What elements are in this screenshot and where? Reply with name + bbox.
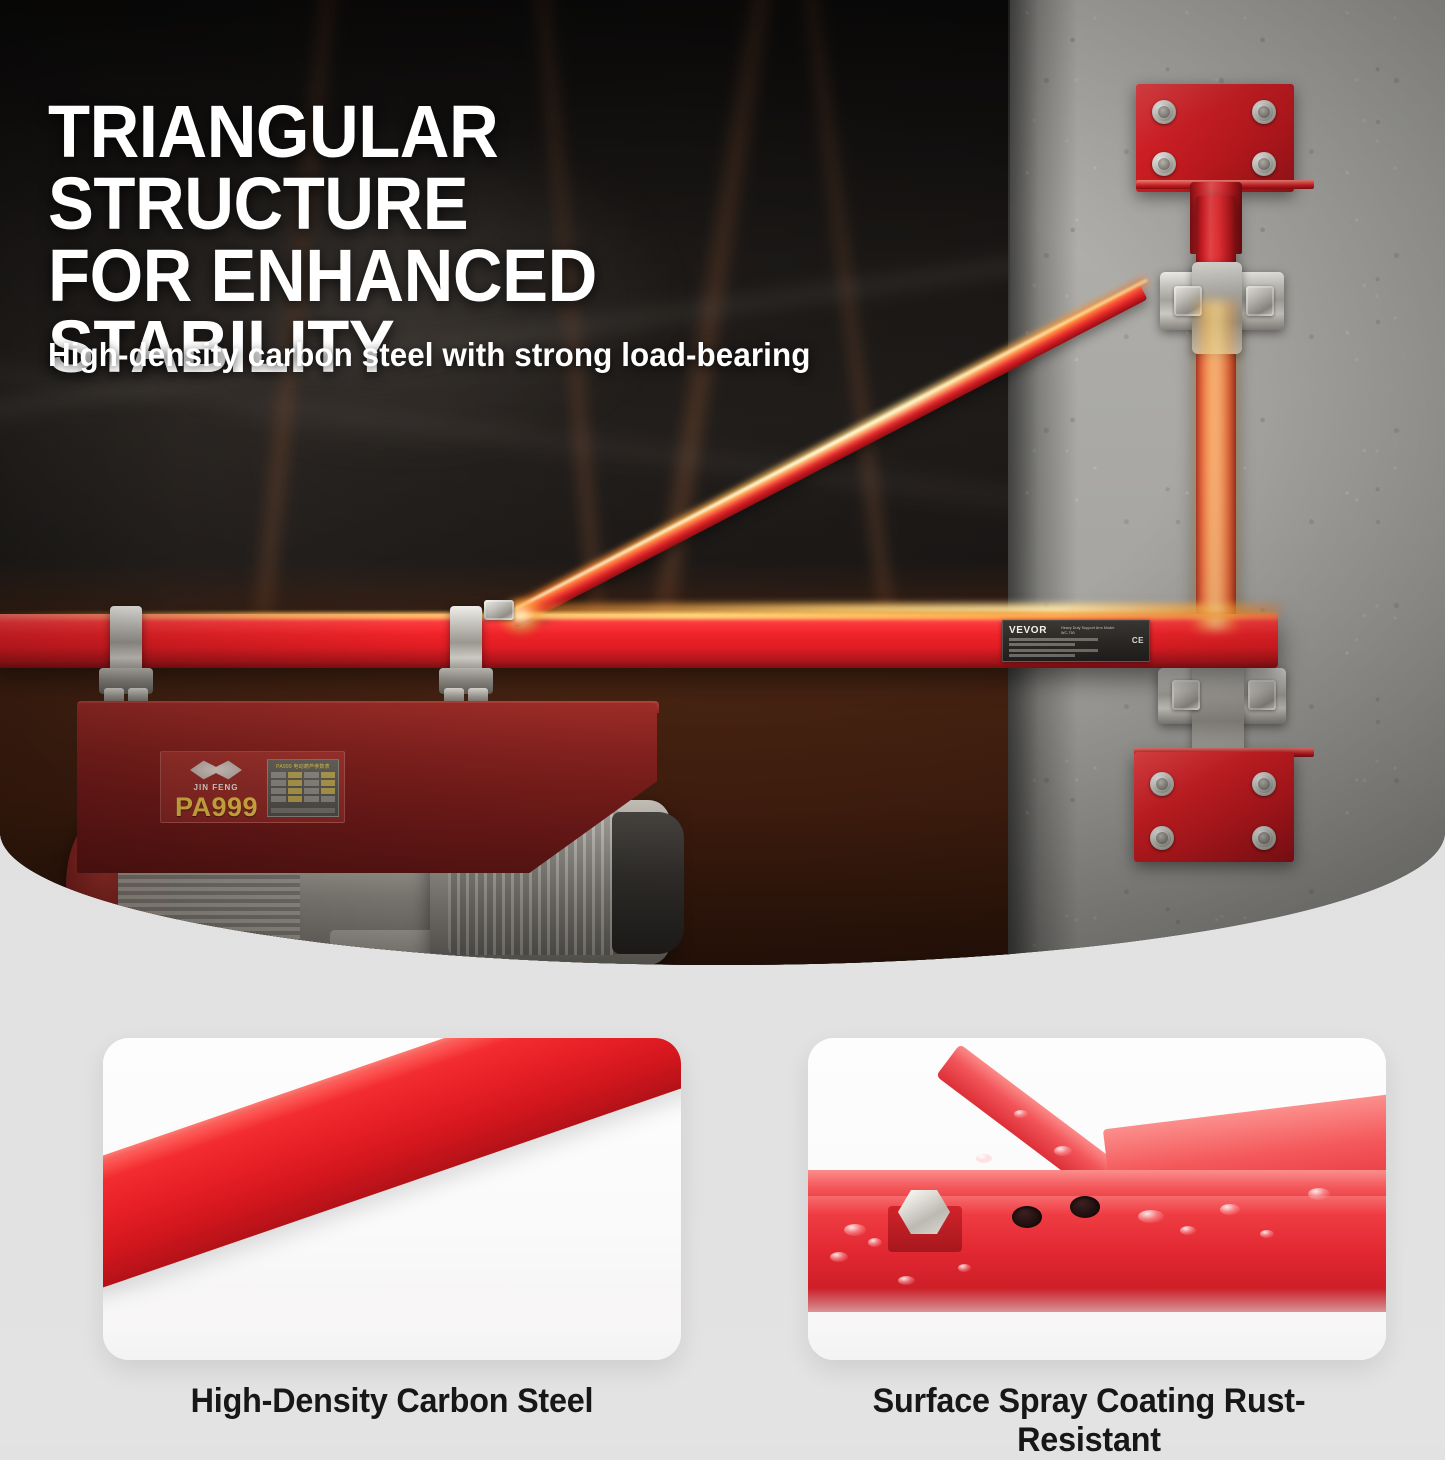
hoist-wire-rope xyxy=(196,960,199,965)
steel-beam-icon xyxy=(103,1038,681,1297)
card-floor-reflection xyxy=(103,1288,681,1360)
water-droplet-icon xyxy=(1308,1188,1330,1200)
ce-certification-mark: CE xyxy=(1132,636,1144,645)
water-droplet-icon xyxy=(1180,1226,1196,1235)
vevor-nameplate: VEVOR Heavy Duty Support Arm Model: WC-7… xyxy=(1002,620,1150,662)
mount-bolt-icon xyxy=(1252,772,1276,796)
feature-card-carbon-steel xyxy=(103,1038,681,1360)
water-droplet-icon xyxy=(976,1154,992,1163)
water-droplet-icon xyxy=(1260,1230,1274,1238)
mount-bolt-icon xyxy=(1150,772,1174,796)
vevor-model-text: Heavy Duty Support Arm Model: WC-750 xyxy=(1061,626,1119,636)
water-droplet-icon xyxy=(830,1252,848,1262)
adjustment-hole-icon xyxy=(1012,1206,1042,1228)
jinfeng-logo-icon xyxy=(185,757,247,783)
product-feature-page: VEVOR Heavy Duty Support Arm Model: WC-7… xyxy=(0,0,1445,1445)
feature-caption-right: Surface Spray Coating Rust-Resistant xyxy=(814,1382,1363,1460)
water-droplet-icon xyxy=(1220,1204,1240,1215)
water-droplet-icon xyxy=(868,1238,882,1247)
feature-cards-section: High-Density Carbon Steel Surface Spray … xyxy=(0,1000,1445,1445)
clamp-nut-icon xyxy=(1246,286,1274,316)
mount-bolt-icon xyxy=(1252,100,1276,124)
spec-plate-footer xyxy=(271,808,335,813)
mount-bolt-icon xyxy=(1150,826,1174,850)
feature-card-rust-resistant xyxy=(808,1038,1386,1360)
boom-edge-highlight xyxy=(0,612,1278,619)
card-background xyxy=(103,1038,681,1360)
spec-plate-rows xyxy=(271,772,335,804)
page-subtitle: High-density carbon steel with strong lo… xyxy=(48,336,941,374)
mount-bolt-icon xyxy=(1252,826,1276,850)
adjustment-hole-icon xyxy=(1070,1196,1100,1218)
water-droplet-icon xyxy=(898,1276,915,1285)
water-droplet-icon xyxy=(844,1224,866,1236)
hoist-fan-cover xyxy=(612,812,684,954)
water-droplet-icon xyxy=(1054,1146,1072,1156)
spec-plate-title: PA999 电动葫芦参数表 xyxy=(268,763,338,770)
trolley-strap xyxy=(110,606,142,676)
vevor-spec-lines xyxy=(1009,638,1115,660)
hoist-spec-plate: PA999 电动葫芦参数表 xyxy=(267,759,339,817)
hoist-model-number: PA999 xyxy=(175,792,275,823)
hoist-brand-label: JIN FENG PA999 PA999 电动葫芦参数表 xyxy=(160,751,345,823)
trolley-strap xyxy=(450,606,482,676)
mount-bolt-icon xyxy=(1152,152,1176,176)
headline-line-1: TRIANGULAR STRUCTURE xyxy=(48,90,498,245)
brace-joint-bolt-icon xyxy=(484,600,514,620)
mount-bolt-icon xyxy=(1152,100,1176,124)
water-droplet-icon xyxy=(1138,1210,1164,1223)
hoist-brand-name: JIN FENG xyxy=(181,783,251,792)
clamp-nut-icon xyxy=(1172,680,1200,710)
card-floor-reflection xyxy=(808,1288,1386,1360)
feature-caption-left: High-Density Carbon Steel xyxy=(117,1382,666,1421)
vevor-logo: VEVOR xyxy=(1009,625,1047,636)
water-droplet-icon xyxy=(1014,1110,1028,1118)
clamp-nut-icon xyxy=(1248,680,1276,710)
hero-section: VEVOR Heavy Duty Support Arm Model: WC-7… xyxy=(0,0,1445,965)
card-background xyxy=(808,1038,1386,1360)
mount-bolt-icon xyxy=(1252,152,1276,176)
water-droplet-icon xyxy=(958,1264,971,1272)
triangle-glow-vertical xyxy=(1192,300,1240,630)
